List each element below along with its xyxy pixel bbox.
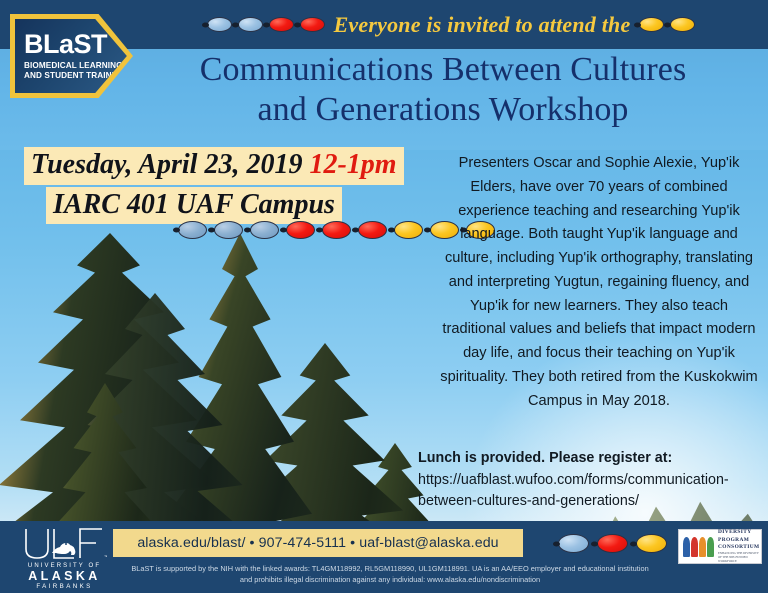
uaf-bear-monogram-icon: ™ [22, 527, 107, 561]
blast-logo: BLaST BIOMEDICAL LEARNING AND STUDENT TR… [10, 14, 133, 98]
svg-text:™: ™ [104, 554, 107, 559]
funding-disclaimer-line1: BLaST is supported by the NIH with the l… [110, 563, 670, 574]
funding-disclaimer-line2: and prohibits illegal discrimination aga… [110, 574, 670, 585]
event-location: IARC 401 UAF Campus [46, 187, 342, 225]
event-time: 12-1pm [309, 149, 396, 180]
event-date: Tuesday, April 23, 2019 [31, 149, 302, 180]
bead-yellow-icon [636, 534, 667, 553]
page-title-line1: Communications Between Cultures [118, 50, 768, 90]
header-content-row: Everyone is invited to attend the [134, 0, 768, 49]
header-beads-left [207, 17, 325, 32]
page-title-line2: and Generations Workshop [118, 90, 768, 130]
invitation-text: Everyone is invited to attend the [334, 12, 631, 38]
bead-red-icon [269, 17, 294, 32]
dpc-figure-blue-icon [683, 537, 690, 557]
blast-logo-tagline-line1: BIOMEDICAL LEARNING [24, 61, 127, 71]
page-title: Communications Between Cultures and Gene… [118, 50, 768, 130]
bead-yellow-icon [394, 221, 423, 239]
event-date-row: Tuesday, April 23, 2019 12-1pm [24, 147, 404, 185]
bead-red-icon [597, 534, 628, 553]
bead-blue-icon [207, 17, 232, 32]
header-beads-right [639, 17, 695, 32]
uaf-logo: ™ UNIVERSITY OF ALASKA FAIRBANKS [22, 527, 107, 585]
contact-text[interactable]: alaska.edu/blast/ • 907-474-5111 • uaf-b… [137, 535, 498, 551]
bead-slate-icon [178, 221, 207, 239]
bead-red-icon [322, 221, 351, 239]
bead-yellow-icon [670, 17, 695, 32]
dpc-figure-orange-icon [699, 537, 706, 557]
dpc-line-1: DIVERSITY [718, 529, 760, 536]
dpc-wordmark: DIVERSITY PROGRAM CONSORTIUM ENHANCING T… [718, 529, 760, 563]
uaf-wordmark: UNIVERSITY OF ALASKA FAIRBANKS [22, 563, 107, 590]
bead-red-icon [286, 221, 315, 239]
footer-beads [558, 534, 667, 553]
bead-slate-icon [214, 221, 243, 239]
bead-red-icon [358, 221, 387, 239]
dpc-tagline: ENHANCING THE DIVERSITY OF THE NIH-FUNDE… [718, 552, 760, 564]
workshop-flyer: Everyone is invited to attend the BLaST … [0, 0, 768, 593]
uaf-fairbanks: FAIRBANKS [22, 583, 107, 590]
event-details: Tuesday, April 23, 2019 12-1pm IARC 401 … [24, 147, 404, 224]
bead-blue-icon [558, 534, 589, 553]
bead-red-icon [300, 17, 325, 32]
contact-strip: alaska.edu/blast/ • 907-474-5111 • uaf-b… [113, 529, 523, 557]
funding-disclaimer: BLaST is supported by the NIH with the l… [110, 563, 670, 586]
diversity-program-consortium-logo: DIVERSITY PROGRAM CONSORTIUM ENHANCING T… [678, 529, 762, 564]
dpc-figure-green-icon [707, 537, 714, 557]
dpc-line-2: PROGRAM [718, 537, 760, 544]
event-location-row: IARC 401 UAF Campus [46, 187, 404, 225]
dpc-figure-red-icon [691, 537, 698, 557]
registration-block: Lunch is provided. Please register at: h… [418, 448, 763, 513]
registration-url-line2[interactable]: between-cultures-and-generations/ [418, 491, 763, 513]
bead-slate-icon [250, 221, 279, 239]
presenter-description: Presenters Oscar and Sophie Alexie, Yup'… [438, 152, 760, 414]
uaf-alaska: ALASKA [22, 569, 107, 583]
event-date-highlight: Tuesday, April 23, 2019 12-1pm [24, 147, 404, 185]
bead-yellow-icon [639, 17, 664, 32]
dpc-line-3: CONSORTIUM [718, 544, 760, 551]
blast-logo-wordmark: BLaST [24, 31, 107, 58]
registration-url-line1[interactable]: https://uafblast.wufoo.com/forms/communi… [418, 470, 763, 492]
registration-headline: Lunch is provided. Please register at: [418, 448, 763, 470]
dpc-figures-icon [683, 537, 714, 557]
footer-bar: ™ UNIVERSITY OF ALASKA FAIRBANKS alaska.… [0, 521, 768, 593]
bead-blue-icon [238, 17, 263, 32]
